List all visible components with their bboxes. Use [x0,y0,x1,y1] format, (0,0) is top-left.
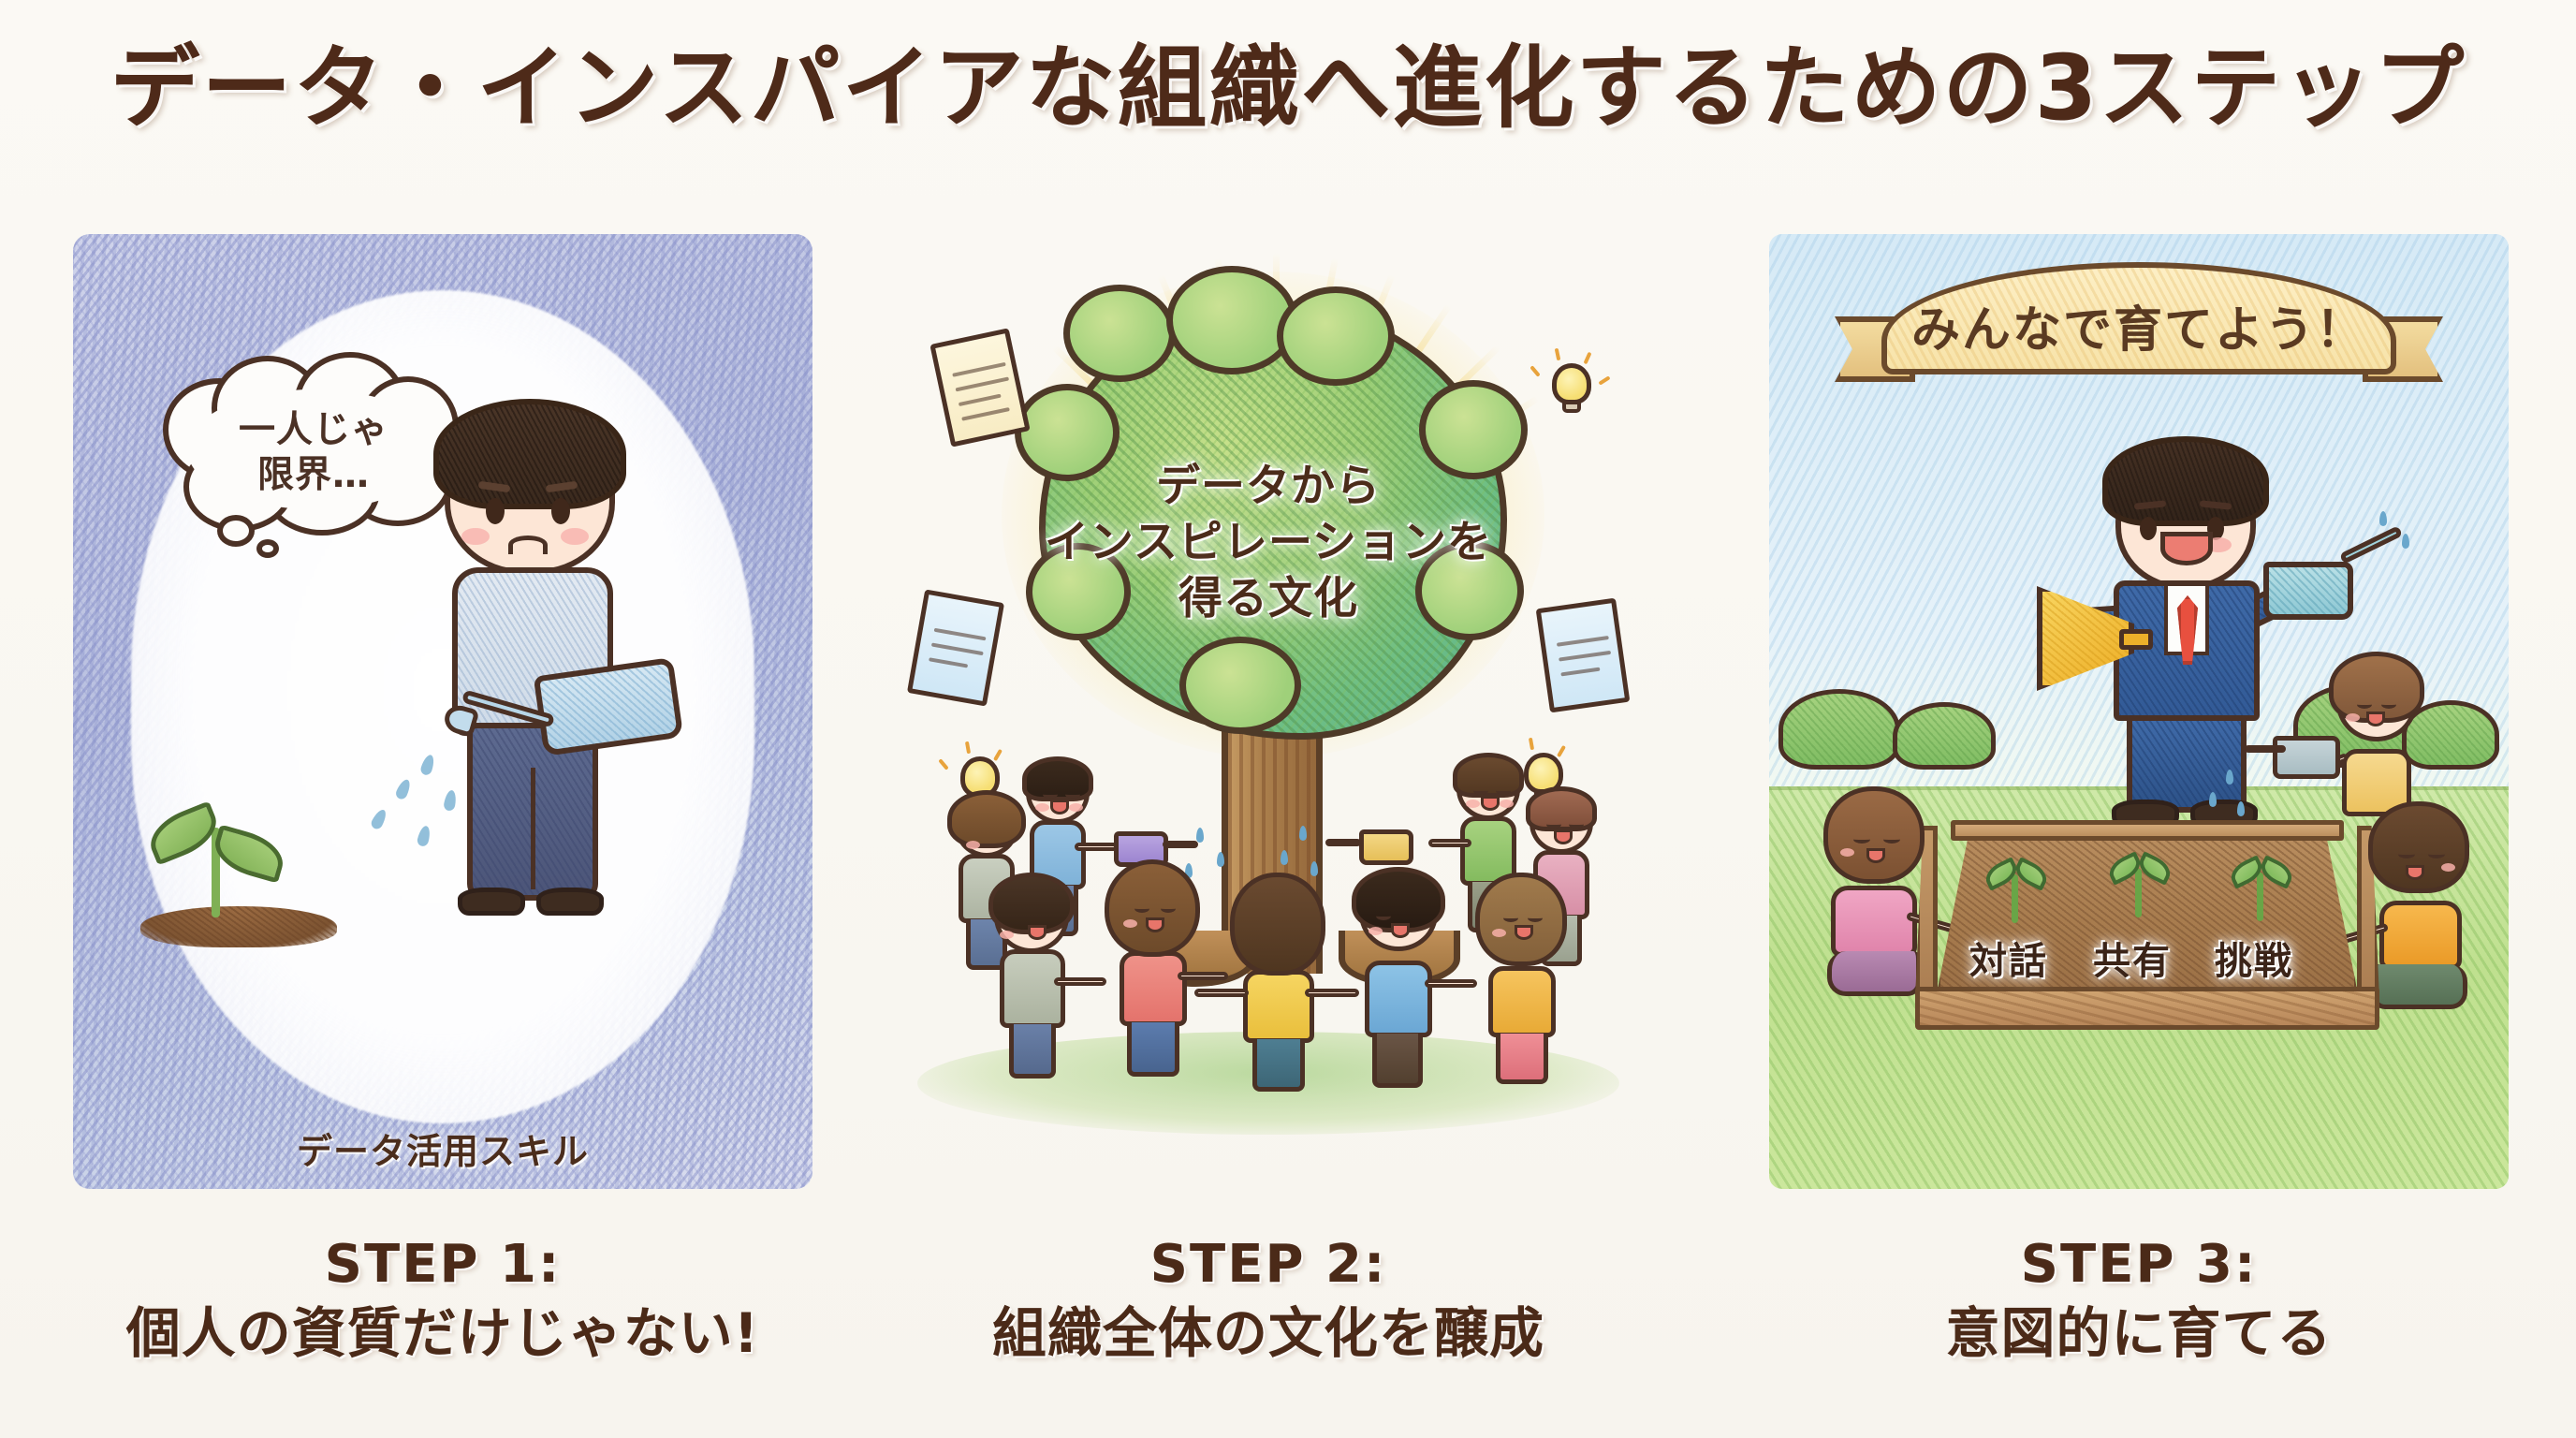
tree-culture-text: データから インスピレーションを 得る文化 [899,459,1638,627]
sprout-plant [140,796,300,927]
caption-step-number: STEP 2: [899,1234,1638,1296]
water-drop [443,789,458,812]
boy-hair [433,399,626,509]
garden-bed: 対話 共有 挑戦 [1915,820,2379,1037]
canopy-bump [1063,285,1176,382]
sprout-leaf [209,824,288,883]
child-hair [947,790,1026,848]
caption-step-number: STEP 1: [73,1234,812,1296]
child-shirt [1365,961,1432,1037]
banner-body: みんなで育てよう！ [1881,262,2396,374]
bed-sprout [1984,854,2046,925]
child-hair [1453,753,1524,798]
watering-can-spout [1163,841,1198,848]
child-arm [1054,977,1106,986]
child-arm [1428,839,1471,847]
light-rays [1273,253,1275,255]
boy-leg-divider [531,768,535,889]
bed-sprout [2230,852,2291,923]
bed-label-challenge: 挑戦 [2215,931,2293,985]
bed-label-dialogue: 対話 [1969,931,2048,985]
tree-text-line-2: インスピレーションを [899,515,1638,571]
boy-mouth-frown [508,536,548,554]
child-shirt [1488,966,1556,1037]
banner-text: みんなで育てよう！ [1911,290,2366,360]
child-shirt [1120,951,1187,1026]
celebration-banner: みんなで育てよう！ [1835,262,2443,403]
boy-eye [486,498,505,524]
watering-can [1359,829,1413,865]
canopy-bump [1179,637,1301,734]
child-arm [1194,989,1249,997]
thought-line-2: 限界… [257,453,370,498]
caption-subtitle: 意図的に育てる [1769,1301,2509,1365]
boy-cheek-blush [461,528,490,545]
caption-step-2: STEP 2: 組織全体の文化を醸成 [899,1234,1638,1366]
panel-step-2: データから インスピレーションを 得る文化 [899,234,1638,1189]
child-figure [1350,876,1449,1084]
child-figure [1226,880,1329,1088]
child-figure [1103,869,1202,1077]
leader-trousers [2127,715,2247,813]
bed-label-share: 共有 [2093,931,2172,985]
document-icon [929,328,1030,447]
gardener-shirt [2379,901,2462,970]
child-hair [1230,873,1325,976]
soil-mound [140,906,337,947]
leader-smile [2160,532,2213,565]
water-drop [419,754,436,777]
watering-can-spout [1325,839,1361,846]
illustration-step-2: データから インスピレーションを 得る文化 [899,234,1638,1189]
illustration-step-3: みんなで育てよう！ [1769,234,2509,1189]
child-hair [1475,873,1567,966]
gardener-shirt [1831,886,1917,957]
boy-eye [551,498,570,524]
gardener-figure [2363,811,2484,1017]
watering-can-spout [2245,745,2286,753]
bubble-tail-small [256,539,279,558]
garden-bed-back-rail [1951,820,2344,841]
child-shirt [1243,970,1314,1043]
page-title: データ・インスパイアな組織へ進化するための3ステップ [0,15,2576,145]
caption-step-3: STEP 3: 意図的に育てる [1769,1234,2509,1366]
gardener-legs [2372,964,2467,1009]
child-hair [1105,859,1200,957]
gardener-legs [1827,951,1921,996]
illustration-step-1: 一人じゃ 限界… [73,234,812,1189]
boy-shoe [536,888,604,916]
infographic-canvas: データ・インスパイアな組織へ進化するための3ステップ 一人じゃ 限界… [0,0,2576,1438]
caption-subtitle: 組織全体の文化を醸成 [899,1301,1638,1365]
panel-step-1: 一人じゃ 限界… [73,234,812,1189]
boy-shoe [458,888,525,916]
thought-bubble-text: 一人じゃ 限界… [187,393,440,513]
leader-hair [2102,436,2269,526]
child-shirt [1000,949,1065,1028]
gardener-hair [1823,786,1925,884]
watering-can [2273,736,2340,779]
tree-text-line-1: データから [899,459,1638,515]
data-skill-label: データ活用スキル [73,1123,812,1174]
child-skirt [1127,1022,1179,1077]
bed-sprout [2108,848,2170,919]
lightbulb-icon [1544,361,1599,416]
caption-step-1: STEP 1: 個人の資質だけじゃない! [73,1234,812,1366]
caption-step-number: STEP 3: [1769,1234,2509,1296]
child-figure [985,880,1078,1077]
water-drop [394,778,413,801]
canopy-bump [1166,266,1297,374]
child-legs [1372,1034,1423,1088]
caption-subtitle: 個人の資質だけじゃない! [73,1301,812,1365]
child-legs [1009,1024,1056,1078]
child-skirt [1496,1034,1548,1084]
watering-can [2263,562,2353,620]
panel-step-3: みんなで育てよう！ [1769,234,2509,1189]
bubble-tail-large [217,515,255,547]
bush [1893,702,1996,770]
boy-cheek-blush [561,528,589,545]
child-legs [1252,1039,1305,1092]
bush [1778,689,1900,770]
child-hair [1526,786,1597,831]
megaphone-handle [2119,629,2153,650]
child-arm [1178,972,1228,980]
water-drop [417,825,432,847]
child-hair [1022,756,1093,801]
garden-bed-front-rail [1915,987,2379,1030]
thought-line-1: 一人じゃ [239,408,388,453]
tree-text-line-3: 得る文化 [899,571,1638,627]
child-arm [1425,979,1477,988]
child-figure [1473,880,1571,1084]
child-arm [1075,843,1118,851]
canopy-bump [1277,286,1395,386]
